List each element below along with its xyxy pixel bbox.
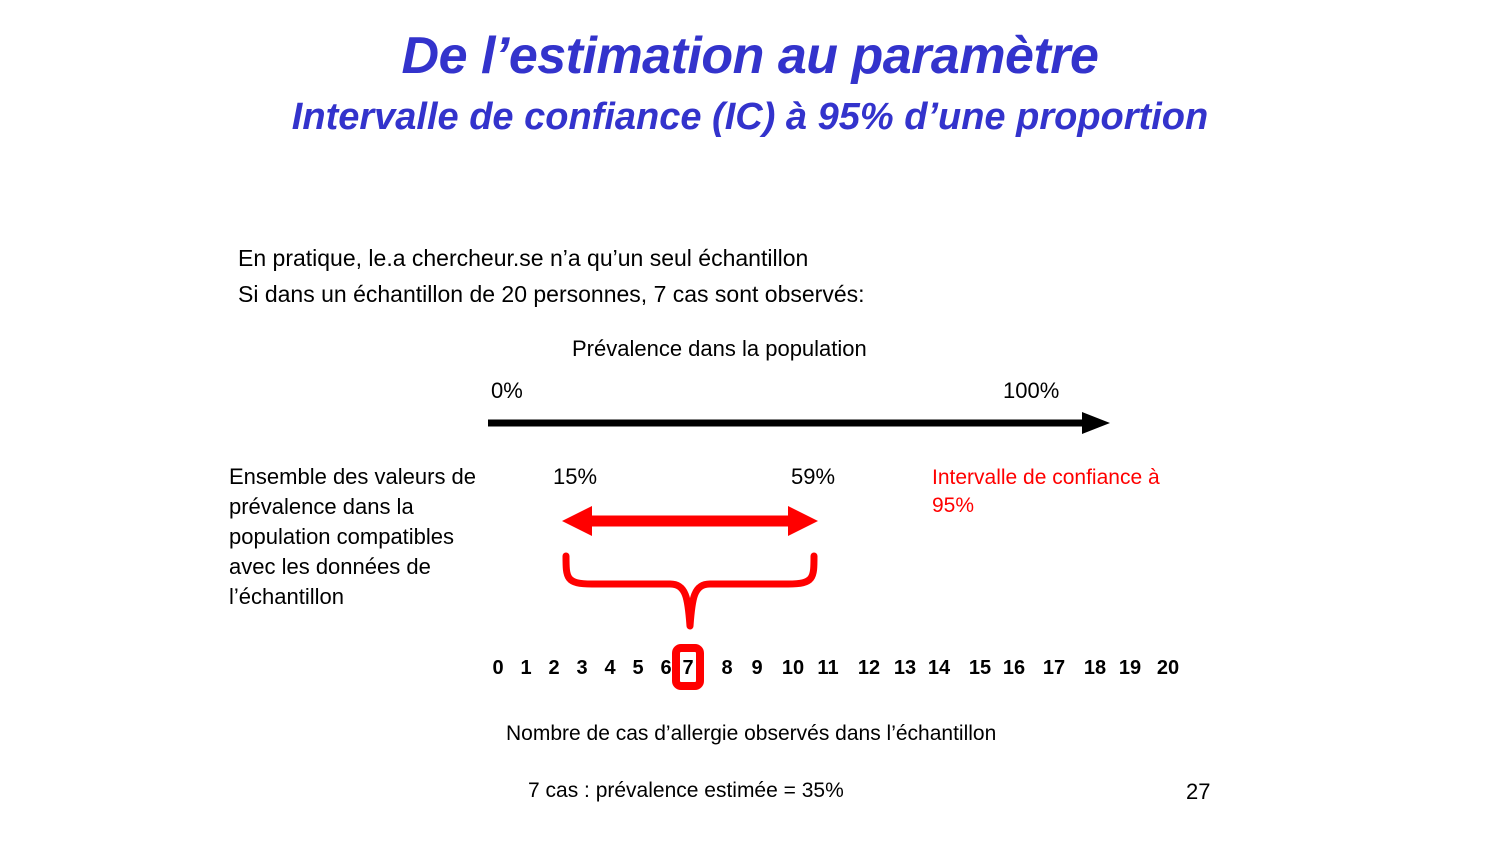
scale-tick-16: 16 [1003, 655, 1025, 681]
highlighted-value-label: 7 [672, 655, 704, 681]
scale-tick-9: 9 [751, 655, 762, 681]
scale-tick-1: 1 [520, 655, 531, 681]
scale-tick-6: 6 [660, 655, 671, 681]
scale-tick-14: 14 [928, 655, 950, 681]
population-axis-caption: Prévalence dans la population [572, 336, 867, 362]
ci-lower-bound-label: 15% [553, 464, 597, 490]
scale-tick-11: 11 [817, 655, 838, 681]
population-axis-min-label: 0% [491, 378, 523, 404]
explanation-text-block: Ensemble des valeurs de prévalence dans … [229, 462, 529, 612]
ci-upper-bound-label: 59% [791, 464, 835, 490]
intro-line-1: En pratique, le.a chercheur.se n’a qu’un… [238, 240, 865, 276]
scale-tick-0: 0 [492, 655, 503, 681]
scale-tick-10: 10 [782, 655, 804, 681]
scale-caption: Nombre de cas d’allergie observés dans l… [506, 722, 996, 746]
explanation-line-3: population compatibles [229, 522, 529, 552]
scale-tick-13: 13 [894, 655, 916, 681]
intro-line-2: Si dans un échantillon de 20 personnes, … [238, 276, 865, 312]
ci-annotation-text: Intervalle de confiance à 95% [932, 464, 1212, 520]
ci-annotation-line-2: 95% [932, 492, 1212, 520]
scale-tick-2: 2 [548, 655, 559, 681]
ci-double-arrow-icon [560, 500, 820, 542]
explanation-line-1: Ensemble des valeurs de [229, 462, 529, 492]
page-number: 27 [1186, 779, 1210, 805]
intro-text-block: En pratique, le.a chercheur.se n’a qu’un… [238, 240, 865, 312]
scale-tick-20: 20 [1157, 655, 1179, 681]
case-count-scale: 0123456891011121314151617181920 [490, 655, 1060, 687]
scale-tick-19: 19 [1119, 655, 1141, 681]
population-axis-arrow-icon [486, 408, 1112, 438]
ci-annotation-line-1: Intervalle de confiance à [932, 464, 1212, 492]
page-subtitle: Intervalle de confiance (IC) à 95% d’une… [0, 96, 1500, 139]
scale-tick-8: 8 [721, 655, 732, 681]
scale-tick-12: 12 [858, 655, 880, 681]
explanation-line-2: prévalence dans la [229, 492, 529, 522]
scale-tick-5: 5 [632, 655, 643, 681]
explanation-line-5: l’échantillon [229, 582, 529, 612]
ci-brace-icon [558, 552, 822, 634]
scale-tick-3: 3 [576, 655, 587, 681]
explanation-line-4: avec les données de [229, 552, 529, 582]
scale-tick-15: 15 [969, 655, 991, 681]
population-axis-max-label: 100% [1003, 378, 1059, 404]
scale-tick-4: 4 [604, 655, 615, 681]
slide-canvas: De l’estimation au paramètre Intervalle … [0, 0, 1500, 844]
scale-tick-17: 17 [1043, 655, 1065, 681]
estimate-caption: 7 cas : prévalence estimée = 35% [528, 779, 844, 803]
scale-tick-18: 18 [1084, 655, 1106, 681]
page-title: De l’estimation au paramètre [0, 26, 1500, 86]
